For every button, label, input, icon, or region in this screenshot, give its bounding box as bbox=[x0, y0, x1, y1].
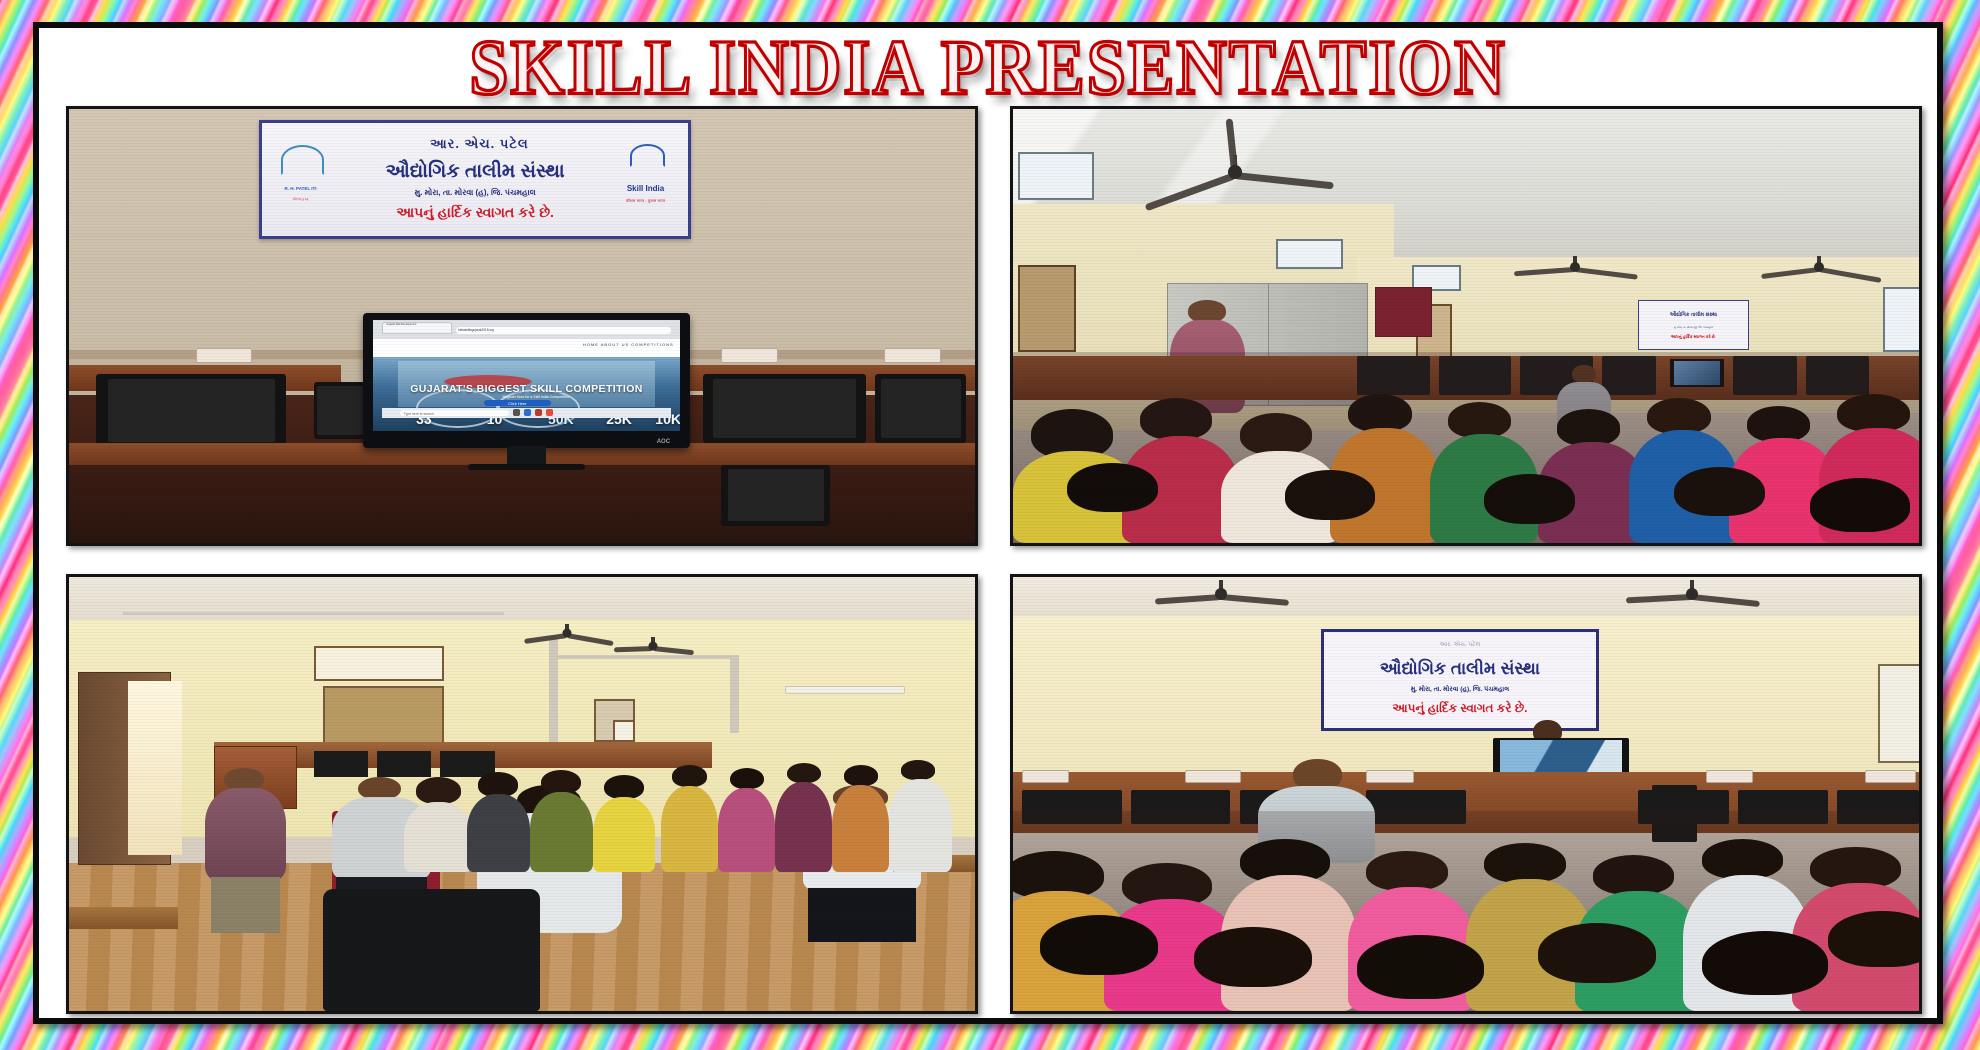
student-audience bbox=[404, 751, 975, 873]
office-chair bbox=[323, 889, 540, 1011]
monitor-screen: Gujarat Skill Development indiaskillsguj… bbox=[373, 320, 680, 432]
photo-grid: R. H. PATEL ITI મોરવા હડફ આર. એચ. પટેલ S… bbox=[66, 106, 1922, 1014]
barred-window bbox=[1018, 265, 1076, 351]
doorway-light bbox=[128, 681, 182, 855]
tube-light bbox=[785, 686, 905, 695]
banner-line-3: મુ. મોરા, તા. મોરવા (હ), જિ. પંચમહાલ bbox=[296, 188, 654, 198]
hero-headline: GUJARAT'S BIGGEST SKILL COMPETITION bbox=[382, 383, 670, 395]
audience-crowd bbox=[1013, 352, 1919, 543]
page-title: SKILL INDIA PRESENTATION bbox=[469, 30, 1506, 108]
monitor-brand-label: AOC bbox=[657, 439, 670, 445]
click-here-button[interactable]: Click Here bbox=[484, 400, 551, 406]
wall-socket bbox=[1185, 770, 1241, 783]
windows-taskbar: Type here to search bbox=[382, 408, 670, 418]
poster-card: SKILL INDIA PRESENTATION R. H. PATEL ITI bbox=[33, 22, 1943, 1024]
site-header: HOME ABOUT US COMPETITIONS bbox=[373, 339, 680, 357]
banner-line-1: આર. એચ. પટેલ bbox=[339, 136, 620, 159]
institute-welcome-banner: R. H. PATEL ITI મોરવા હડફ આર. એચ. પટેલ S… bbox=[259, 120, 691, 239]
window bbox=[1878, 664, 1919, 763]
ceiling-fan-icon bbox=[1756, 252, 1883, 282]
audience-crowd bbox=[1013, 811, 1919, 1011]
aoc-monitor: Gujarat Skill Development indiaskillsguj… bbox=[363, 313, 689, 448]
poster-page: SKILL INDIA PRESENTATION R. H. PATEL ITI bbox=[0, 0, 1980, 1050]
window bbox=[1018, 152, 1094, 199]
task-view-icon[interactable] bbox=[513, 409, 520, 416]
ceiling-fan-icon bbox=[1140, 148, 1330, 196]
banner-line-4: આપનું હાર્દિક સ્વાગત કરે છે. bbox=[296, 204, 654, 221]
standing-staff-member bbox=[205, 768, 287, 933]
app-icon[interactable] bbox=[546, 409, 553, 416]
poster-title-area: SKILL INDIA PRESENTATION bbox=[39, 30, 1937, 108]
browser-chrome: Gujarat Skill Development indiaskillsguj… bbox=[373, 320, 680, 339]
site-hero: GUJARAT'S BIGGEST SKILL COMPETITION Regi… bbox=[373, 357, 680, 432]
window-small bbox=[613, 720, 635, 741]
photo-1-computer-lab-banner: R. H. PATEL ITI મોરવા હડફ આર. એચ. પટેલ S… bbox=[66, 106, 978, 546]
barred-window bbox=[323, 686, 445, 751]
monitor-stand bbox=[507, 446, 546, 465]
photo-3-seminar-hall bbox=[66, 574, 978, 1014]
wall-socket bbox=[1706, 770, 1753, 783]
app-icon[interactable] bbox=[535, 409, 542, 416]
wall-socket bbox=[1865, 770, 1917, 783]
photo-2-classroom-session: ઔદ્યોગિક તાલીમ સંસ્થા મુ. મોરા, તા. મોરવ… bbox=[1010, 106, 1922, 546]
ceiling-fan-icon bbox=[1511, 252, 1638, 282]
edge-icon[interactable] bbox=[524, 409, 531, 416]
institute-welcome-banner: આર. એચ. પટેલ ઔદ્યોગિક તાલીમ સંસ્થા મુ. મ… bbox=[1321, 629, 1599, 730]
hero-subline: Register Now for a Skill India Competiti… bbox=[465, 395, 606, 399]
ceiling-fan-icon bbox=[522, 620, 613, 646]
wall-socket bbox=[196, 348, 252, 363]
window bbox=[1276, 239, 1343, 269]
taskbar-search-input[interactable]: Type here to search bbox=[400, 410, 510, 416]
ceiling-fan-icon bbox=[1629, 577, 1756, 612]
transom-window bbox=[314, 646, 445, 680]
address-bar[interactable]: indiaskillsgujarat2018.org bbox=[456, 327, 671, 334]
ceiling-fan-icon bbox=[1158, 577, 1285, 612]
institute-banner-small: ઔદ્યોગિક તાલીમ સંસ્થા મુ. મોરા, તા. મોરવ… bbox=[1638, 300, 1749, 350]
wall-socket bbox=[721, 348, 777, 363]
wall-socket bbox=[884, 348, 940, 363]
window bbox=[1883, 287, 1919, 352]
browser-tab[interactable]: Gujarat Skill Development bbox=[382, 322, 451, 333]
site-nav[interactable]: HOME ABOUT US COMPETITIONS bbox=[583, 342, 674, 347]
wall-socket bbox=[1022, 770, 1069, 783]
banner-line-2: ઔદ્યોગિક તાલીમ સંસ્થા bbox=[296, 161, 654, 183]
photo-4-presentation-audience: આર. એચ. પટેલ ઔદ્યોગિક તાલીમ સંસ્થા મુ. મ… bbox=[1010, 574, 1922, 1014]
monitor-base bbox=[468, 464, 585, 471]
notice-board bbox=[1375, 287, 1431, 337]
ceiling-fan-icon bbox=[613, 633, 695, 659]
